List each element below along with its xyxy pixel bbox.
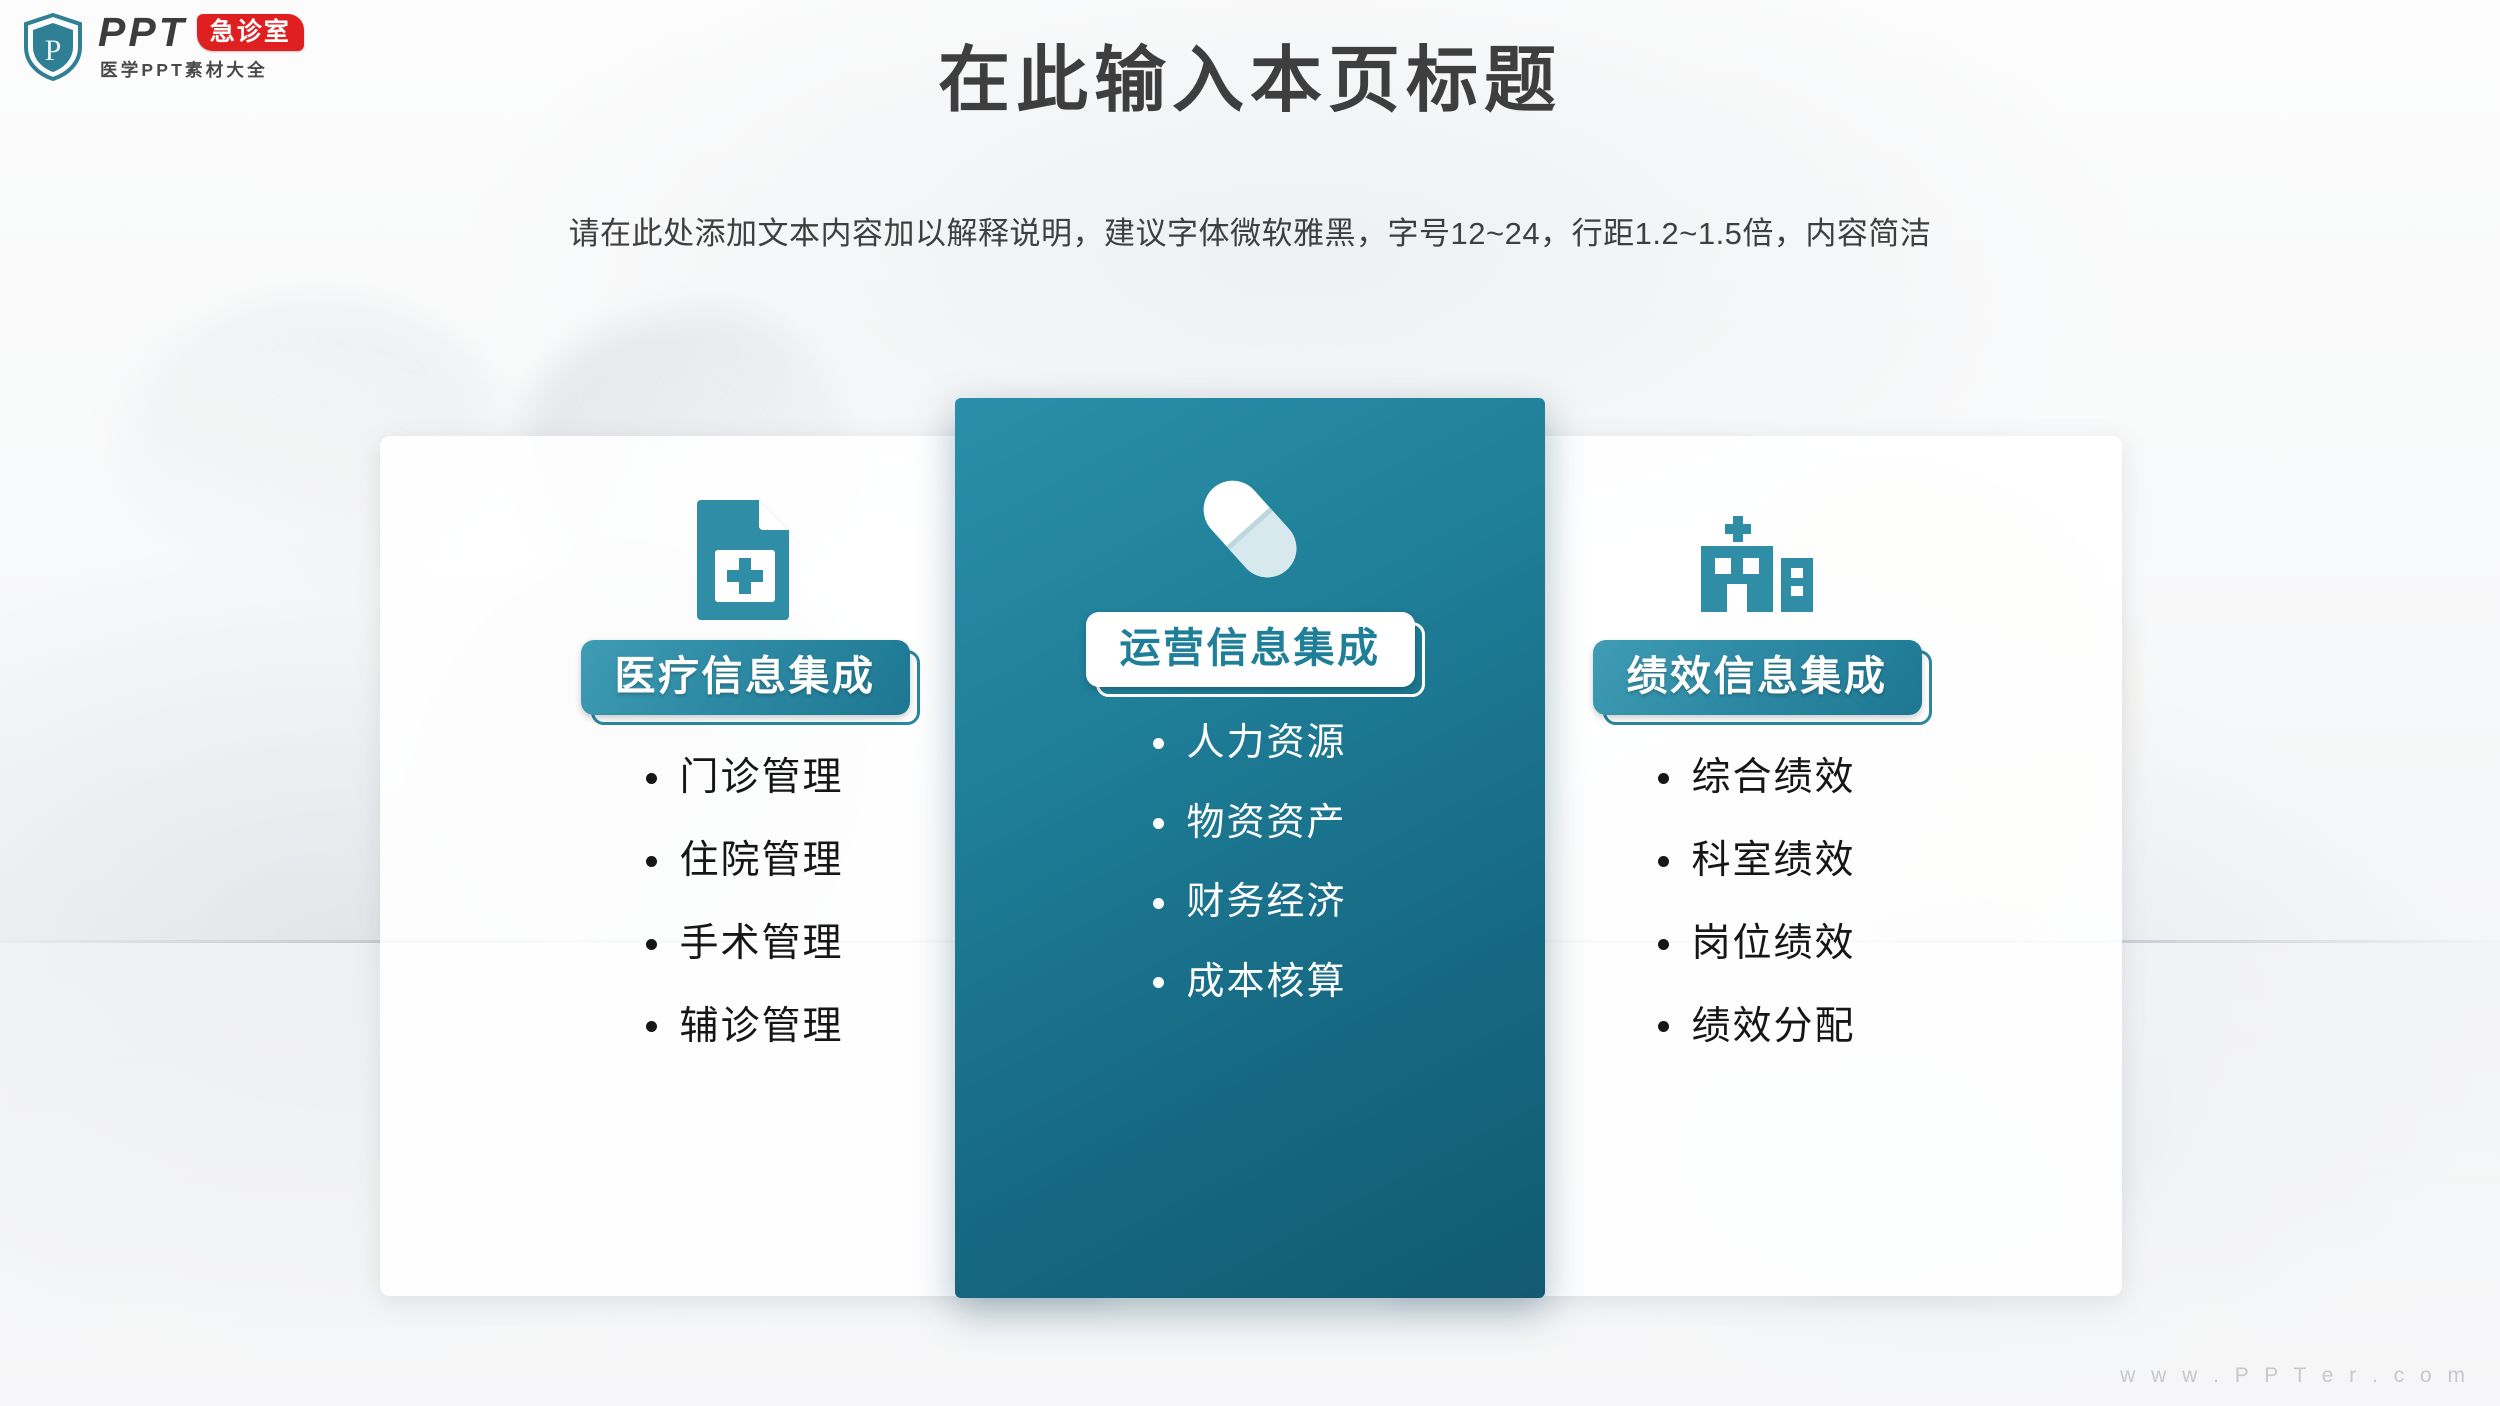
slide: P PPT 急诊室 医学PPT素材大全 在此输入本页标题 请在此处添加文本内容加… <box>0 0 2500 1406</box>
card-title-performance: 绩效信息集成 <box>1593 640 1922 715</box>
card-title-operations: 运营信息集成 <box>1086 612 1415 687</box>
list-item-label: 辅诊管理 <box>679 1004 843 1051</box>
card-list-operations: 人力资源 物资资产 财务经济 成本核算 <box>955 721 1545 1039</box>
bullet-dot-icon <box>1153 898 1164 909</box>
list-item: 财务经济 <box>955 880 1545 926</box>
card-title-badge-wrap: 运营信息集成 <box>1086 612 1415 687</box>
list-item-label: 绩效分配 <box>1691 1004 1855 1051</box>
bullet-dot-icon <box>1658 773 1669 784</box>
bullet-dot-icon <box>646 773 657 784</box>
list-item-label: 人力资源 <box>1186 721 1346 767</box>
list-item-label: 手术管理 <box>679 921 843 968</box>
hospital-building-icon <box>1695 498 1819 618</box>
list-item-label: 住院管理 <box>679 838 843 885</box>
list-item-label: 物资资产 <box>1186 801 1346 847</box>
bullet-dot-icon <box>1658 1021 1669 1032</box>
bullet-dot-icon <box>1153 738 1164 749</box>
list-item-label: 综合绩效 <box>1691 755 1855 802</box>
list-item: 成本核算 <box>955 960 1545 1006</box>
bullet-dot-icon <box>1658 856 1669 867</box>
card-group: 医疗信息集成 门诊管理 住院管理 手术管理 辅诊管理 <box>0 0 2500 1406</box>
list-item-label: 科室绩效 <box>1691 838 1855 885</box>
bullet-dot-icon <box>1153 977 1164 988</box>
card-title-badge-wrap: 医疗信息集成 <box>581 640 910 715</box>
footer-website: w w w . P P T e r . c o m <box>2120 1364 2470 1388</box>
card-title-medical: 医疗信息集成 <box>581 640 910 715</box>
bullet-dot-icon <box>1153 818 1164 829</box>
bullet-dot-icon <box>646 856 657 867</box>
list-item-label: 成本核算 <box>1186 960 1346 1006</box>
list-item-label: 财务经济 <box>1186 880 1346 926</box>
bullet-dot-icon <box>646 939 657 950</box>
list-item: 人力资源 <box>955 721 1545 767</box>
card-operations[interactable]: 运营信息集成 人力资源 物资资产 财务经济 成本核算 <box>955 398 1545 1298</box>
list-item-label: 岗位绩效 <box>1691 921 1855 968</box>
card-title-badge-wrap: 绩效信息集成 <box>1593 640 1922 715</box>
list-item: 物资资产 <box>955 801 1545 847</box>
bullet-dot-icon <box>646 1021 657 1032</box>
list-item-label: 门诊管理 <box>679 755 843 802</box>
document-plus-icon <box>693 498 797 618</box>
capsule-pill-icon <box>1185 464 1315 594</box>
bullet-dot-icon <box>1658 939 1669 950</box>
